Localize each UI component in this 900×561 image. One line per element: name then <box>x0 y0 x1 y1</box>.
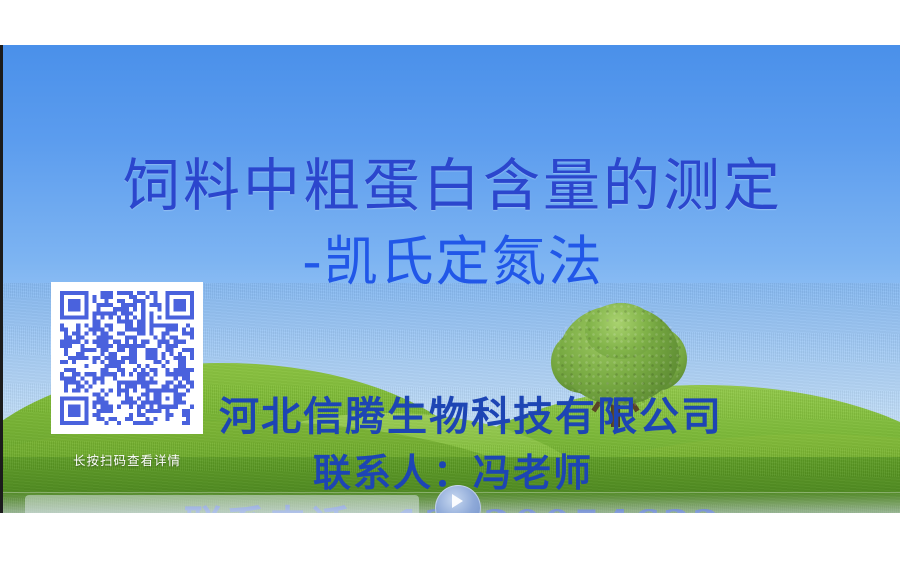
player-progress-panel[interactable] <box>25 495 419 513</box>
slide-title-subtitle: -凯氏定氮法 <box>3 235 900 289</box>
screenshot-root: 饲料中粗蛋白含量的测定 -凯氏定氮法 长按扫码查看详情 河北信腾生物科技有限公司… <box>0 0 900 561</box>
tree-canopy <box>585 303 657 359</box>
company-name: 河北信腾生物科技有限公司 <box>39 397 900 437</box>
slide-title-main: 饲料中粗蛋白含量的测定 <box>3 158 900 215</box>
video-player-frame[interactable]: 饲料中粗蛋白含量的测定 -凯氏定氮法 长按扫码查看详情 河北信腾生物科技有限公司… <box>0 45 900 513</box>
play-triangle-icon <box>452 494 463 508</box>
